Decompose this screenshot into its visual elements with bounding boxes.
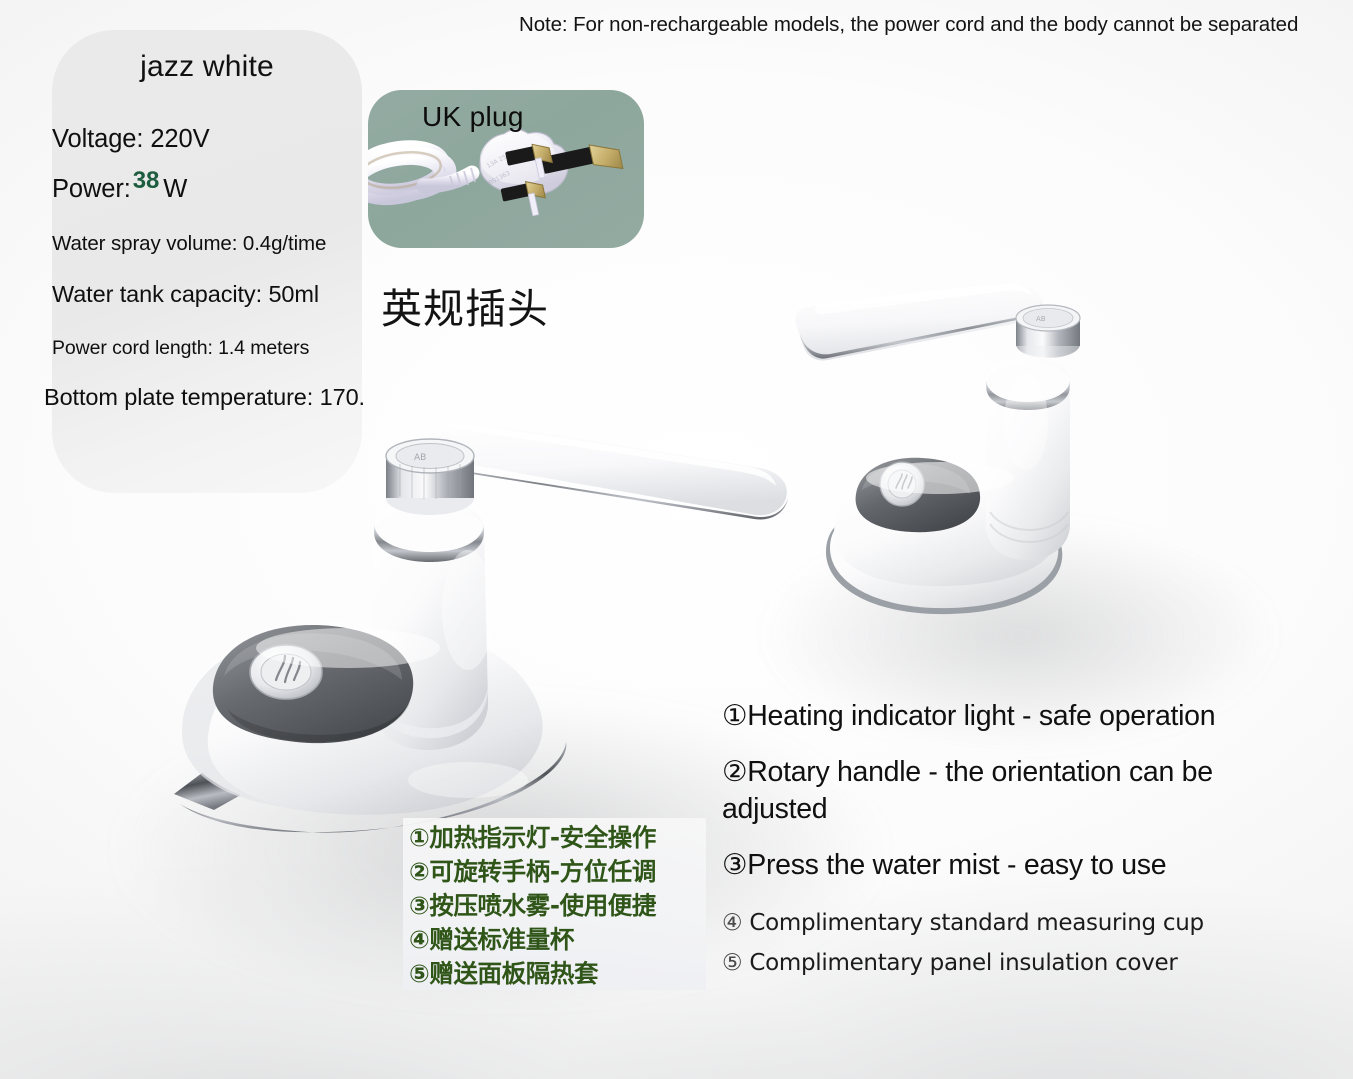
spec-cord-length: Power cord length: 1.4 meters — [52, 337, 309, 360]
spec-voltage: Voltage: 220V — [52, 125, 210, 154]
uk-plug-caption-cn: 英规插头 — [381, 275, 549, 335]
spec-power: Power:38W — [52, 175, 181, 204]
spec-power-value: 38 — [133, 167, 160, 194]
feature-en-1: ①Heating indicator light - safe operatio… — [722, 698, 1322, 735]
feature-en-4-number: ④ — [722, 910, 742, 936]
svg-text:AB: AB — [1036, 315, 1046, 323]
feature-cn-3: ③按压喷水雾-使用便捷 — [409, 889, 709, 923]
spec-power-label: Power: — [52, 175, 131, 203]
feature-en-4: ④ Complimentary standard measuring cup — [722, 903, 1322, 943]
feature-en-3: ③Press the water mist - easy to use — [722, 847, 1322, 884]
feature-cn-1: ①加热指示灯-安全操作 — [409, 821, 709, 855]
feature-en-5-number: ⑤ — [722, 950, 742, 976]
feature-en-2: ②Rotary handle - the orientation can be … — [722, 754, 1322, 828]
spec-spray-volume: Water spray volume: 0.4g/time — [52, 232, 326, 256]
features-en-list: ①Heating indicator light - safe operatio… — [722, 698, 1322, 983]
svg-text:AB: AB — [414, 453, 426, 463]
product-photo-front-iron: AB — [168, 380, 808, 855]
disclaimer-note: Note: For non-rechargeable models, the p… — [519, 13, 1353, 37]
feature-en-5: ⑤ Complimentary panel insulation cover — [722, 943, 1322, 983]
spec-power-unit: W — [163, 175, 187, 203]
uk-plug-label: UK plug — [422, 101, 524, 133]
feature-cn-4: ④赠送标准量杯 — [409, 923, 709, 957]
product-photo-back-iron: AB — [790, 262, 1150, 667]
uk-plug-card: 13A 250V BS1363 UK plug — [368, 90, 644, 248]
feature-en-5-text: Complimentary panel insulation cover — [749, 950, 1177, 976]
features-cn-list: ①加热指示灯-安全操作 ②可旋转手柄-方位任调 ③按压喷水雾-使用便捷 ④赠送标… — [409, 821, 709, 991]
product-color-title: jazz white — [52, 50, 362, 84]
feature-cn-2: ②可旋转手柄-方位任调 — [409, 855, 709, 889]
product-marketing-image: Note: For non-rechargeable models, the p… — [0, 0, 1353, 1079]
spec-tank-capacity: Water tank capacity: 50ml — [52, 281, 319, 308]
feature-cn-5: ⑤赠送面板隔热套 — [409, 957, 709, 991]
feature-en-4-text: Complimentary standard measuring cup — [749, 910, 1203, 936]
